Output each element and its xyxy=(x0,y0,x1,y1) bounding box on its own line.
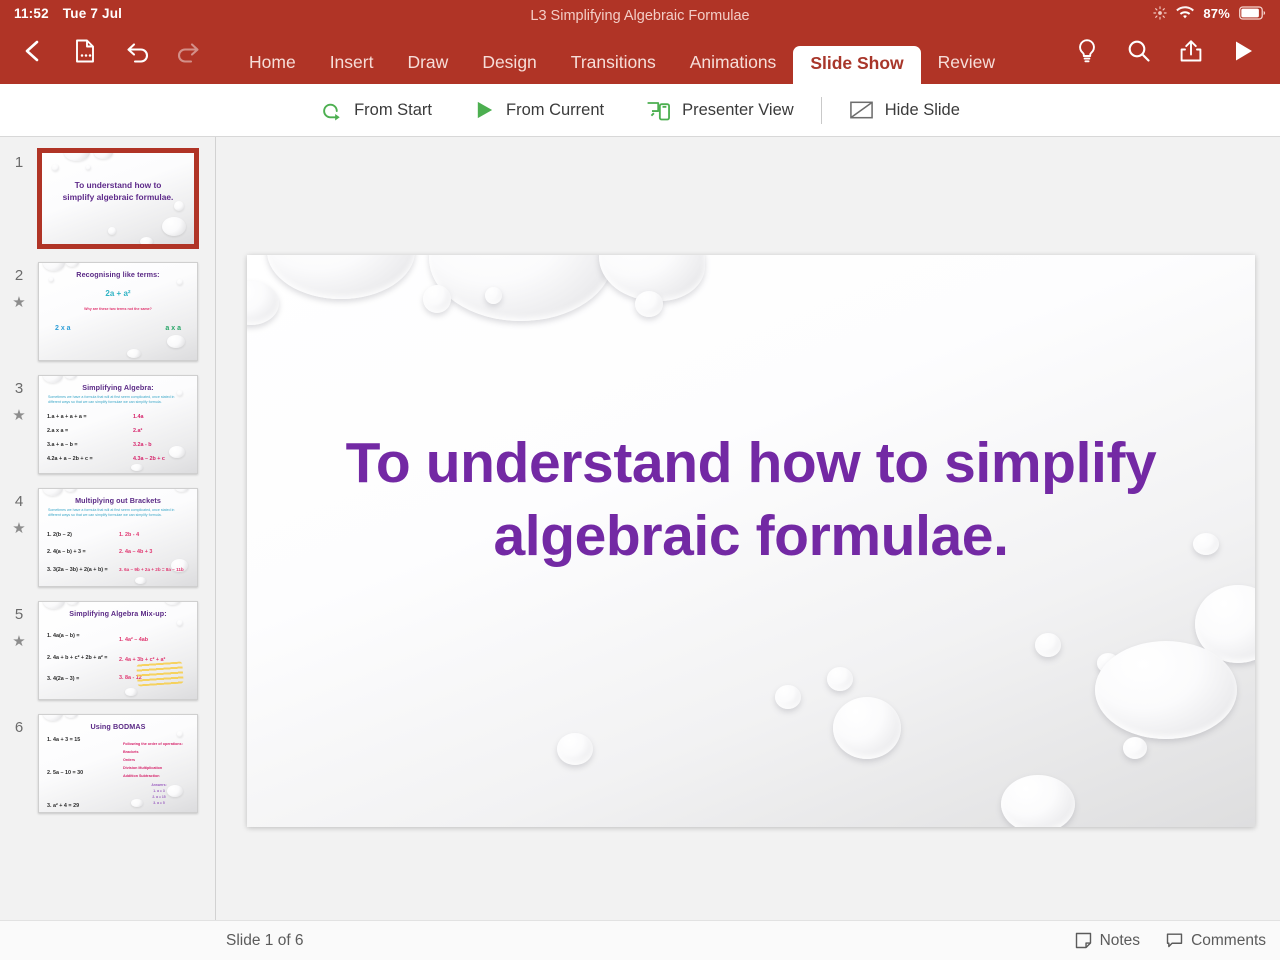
comments-button[interactable]: Comments xyxy=(1166,932,1266,950)
slide-thumbnail-5[interactable]: 5 ★ Simplifying Algebra Mix-up: 1. 4a(a … xyxy=(0,601,215,702)
file-options-icon[interactable] xyxy=(62,32,108,70)
slide-thumbnail-6[interactable]: 6 Using BODMAS 1. 4a + 3 = 15 2. 5a – 10… xyxy=(0,714,215,815)
brightness-icon xyxy=(1153,6,1167,20)
thumbnail-title-4: Multiplying out Brackets xyxy=(39,496,197,505)
notes-button[interactable]: Notes xyxy=(1075,932,1141,950)
thumbnail-frame-3[interactable]: Simplifying Algebra: Sometimes we have a… xyxy=(38,375,198,474)
tab-animations[interactable]: Animations xyxy=(673,48,794,85)
slide-thumbnail-sidebar[interactable]: 1 To understand how to simplify algebrai… xyxy=(0,137,216,920)
thumbnail-a1-5: 1. 4a² – 4ab xyxy=(119,637,148,643)
droplet-decoration xyxy=(557,733,593,765)
slide-title-text[interactable]: To understand how to simplify algebraic … xyxy=(328,427,1175,573)
droplet-decoration xyxy=(485,287,502,304)
droplet-decoration xyxy=(833,697,901,759)
status-date: Tue 7 Jul xyxy=(63,6,122,21)
thumbnail-a1-4: 1. 2b - 4 xyxy=(119,532,139,538)
thumbnail-q2-3: 2.a x a = xyxy=(47,428,68,434)
share-icon[interactable] xyxy=(1168,32,1214,70)
toolbar-divider xyxy=(821,97,822,124)
droplet-decoration xyxy=(1035,633,1061,657)
thumbnail-step-2-6: Orders xyxy=(123,757,135,763)
comments-icon xyxy=(1166,932,1183,949)
current-slide-canvas[interactable]: To understand how to simplify algebraic … xyxy=(247,255,1255,827)
tab-slide-show[interactable]: Slide Show xyxy=(793,46,920,85)
droplet-decoration xyxy=(423,285,451,313)
from-current-button[interactable]: From Current xyxy=(453,90,625,130)
thumbnail-q3-3: 3.a + a – b = xyxy=(47,442,78,448)
slide-editing-stage[interactable]: To understand how to simplify algebraic … xyxy=(216,137,1280,920)
ribbon-bar: L3 Simplifying Algebraic Formulae xyxy=(0,26,1280,84)
thumbnail-intro-3: Sometimes we have a formula that will at… xyxy=(48,395,188,406)
thumbnail-canvas-5: Simplifying Algebra Mix-up: 1. 4a(a – b)… xyxy=(39,602,197,699)
thumbnail-right-term-2: a x a xyxy=(165,325,181,332)
thumbnail-q2-6: 2. 5a – 10 = 30 xyxy=(47,770,83,776)
status-time: 11:52 xyxy=(14,6,49,21)
from-start-label: From Start xyxy=(354,102,432,119)
from-current-icon xyxy=(474,99,495,121)
presenter-view-icon xyxy=(646,99,671,122)
droplet-decoration xyxy=(247,281,279,325)
thumbnail-q3-5: 3. 4(2a – 3) = xyxy=(47,676,79,682)
thumbnail-title-3: Simplifying Algebra: xyxy=(39,383,197,392)
notes-icon xyxy=(1075,932,1092,949)
thumbnail-a3-3: 3.2a - b xyxy=(133,442,152,448)
wifi-icon xyxy=(1176,6,1194,20)
thumbnail-a1-3: 1.4a xyxy=(133,414,144,420)
thumbnail-q3-4: 3. 3(2a – 3b) + 2(a + b) = xyxy=(47,567,108,573)
thumbnail-q1-6: 1. 4a + 3 = 15 xyxy=(47,737,80,743)
thumbnail-meta-4: 4 ★ xyxy=(0,488,38,536)
slide-number-3: 3 xyxy=(0,381,38,396)
powerpoint-app-window: 11:52 Tue 7 Jul 87% xyxy=(0,0,1280,960)
thumbnail-meta-1: 1 xyxy=(0,149,38,170)
thumbnail-ans-1-6: 1. a = 3 xyxy=(135,789,183,794)
presenter-view-button[interactable]: Presenter View xyxy=(625,90,815,130)
thumbnail-q2-5: 2. 4a + b + c² + 2b + a² = xyxy=(47,655,107,661)
thumbnail-question-2: Why are these two terms not the same? xyxy=(39,307,197,311)
tab-transitions[interactable]: Transitions xyxy=(554,48,673,85)
thumbnail-intro-4: Sometimes we have a formula that will at… xyxy=(48,508,188,519)
thumbnail-title-6: Using BODMAS xyxy=(39,722,197,731)
from-current-label: From Current xyxy=(506,102,604,119)
droplet-decoration xyxy=(775,685,801,709)
thumbnail-frame-5[interactable]: Simplifying Algebra Mix-up: 1. 4a(a – b)… xyxy=(38,601,198,700)
tab-review[interactable]: Review xyxy=(921,48,1012,85)
animation-star-icon-2: ★ xyxy=(0,295,38,310)
animation-star-icon-5: ★ xyxy=(0,634,38,649)
droplet-decoration xyxy=(827,667,853,691)
play-icon[interactable] xyxy=(1220,32,1266,70)
hide-slide-button[interactable]: Hide Slide xyxy=(828,90,981,130)
slide-thumbnail-4[interactable]: 4 ★ Multiplying out Brackets Sometimes w… xyxy=(0,488,215,589)
droplet-decoration xyxy=(1193,533,1219,555)
thumbnail-meta-3: 3 ★ xyxy=(0,375,38,423)
ribbon-tabs: Home Insert Draw Design Transitions Anim… xyxy=(218,46,1064,85)
slide-number-1: 1 xyxy=(0,155,38,170)
back-chevron-icon[interactable] xyxy=(10,32,56,70)
droplet-decoration xyxy=(267,255,415,299)
status-bar-right: 87% xyxy=(1153,6,1266,21)
ios-status-bar: 11:52 Tue 7 Jul 87% xyxy=(0,0,1280,26)
thumbnail-step-3-6: Division Multiplication xyxy=(123,765,162,771)
from-start-icon xyxy=(320,99,343,122)
thumbnail-meta-6: 6 xyxy=(0,714,38,735)
status-bar-left: 11:52 Tue 7 Jul xyxy=(14,6,122,21)
thumbnail-frame-6[interactable]: Using BODMAS 1. 4a + 3 = 15 2. 5a – 10 =… xyxy=(38,714,198,813)
bottom-actions: Notes Comments xyxy=(1075,932,1266,950)
thumbnail-q1-4: 1. 2(b – 2) xyxy=(47,532,72,538)
slide-number-4: 4 xyxy=(0,494,38,509)
from-start-button[interactable]: From Start xyxy=(299,90,453,130)
thumbnail-title-2: Recognising like terms: xyxy=(39,270,197,279)
thumbnail-answers-heading-6: Answers: xyxy=(135,783,183,788)
droplet-decoration xyxy=(1123,737,1147,759)
droplet-decoration xyxy=(1001,775,1075,827)
notes-label: Notes xyxy=(1100,932,1141,950)
thumbnail-step-1-6: Brackets xyxy=(123,749,139,755)
presenter-view-label: Presenter View xyxy=(682,102,794,119)
thumbnail-ans-3-6: 3. a = 5 xyxy=(135,801,183,806)
animation-star-icon-4: ★ xyxy=(0,521,38,536)
thumbnail-steps-heading-6: Following the order of operations: xyxy=(123,741,183,747)
thumbnail-equation-2: 2a + a² xyxy=(39,289,197,298)
slide-number-2: 2 xyxy=(0,268,38,283)
thumbnail-step-4-6: Addition Subtraction xyxy=(123,773,159,779)
thumbnail-frame-1[interactable]: To understand how to simplify algebraic … xyxy=(38,149,198,248)
ribbon-left-actions xyxy=(0,32,218,84)
thumbnail-a3-4: 3. 6a – 9b + 2a + 2b = 8a – 11b xyxy=(119,567,184,572)
tab-draw[interactable]: Draw xyxy=(390,48,465,85)
slide-thumbnail-1[interactable]: 1 To understand how to simplify algebrai… xyxy=(0,149,215,250)
slide-number-5: 5 xyxy=(0,607,38,622)
slide-thumbnail-2[interactable]: 2 ★ Recognising like terms: 2a + a² Why … xyxy=(0,262,215,363)
thumbnail-canvas-4: Multiplying out Brackets Sometimes we ha… xyxy=(39,489,197,586)
comments-label: Comments xyxy=(1191,932,1266,950)
animation-star-icon-3: ★ xyxy=(0,408,38,423)
thumbnail-q2-4: 2. 4(a – b) + 3 = xyxy=(47,549,86,555)
droplet-decoration xyxy=(635,291,663,317)
hide-slide-icon xyxy=(849,99,874,121)
thumbnail-frame-2[interactable]: Recognising like terms: 2a + a² Why are … xyxy=(38,262,198,361)
hide-slide-label: Hide Slide xyxy=(885,102,960,119)
workspace: 1 To understand how to simplify algebrai… xyxy=(0,137,1280,920)
thumbnail-a4-3: 4.3a – 2b + c xyxy=(133,456,165,462)
slide-thumbnail-3[interactable]: 3 ★ Simplifying Algebra: Sometimes we ha… xyxy=(0,375,215,476)
tab-insert[interactable]: Insert xyxy=(313,48,391,85)
droplet-decoration xyxy=(1095,641,1237,739)
thumbnail-a2-4: 2. 4a – 4b + 3 xyxy=(119,549,152,555)
thumbnail-canvas-6: Using BODMAS 1. 4a + 3 = 15 2. 5a – 10 =… xyxy=(39,715,197,812)
redo-icon[interactable] xyxy=(166,32,212,70)
thumbnail-canvas-1: To understand how to simplify algebraic … xyxy=(42,153,194,244)
thumbnail-ans-2-6: 2. a = 15 xyxy=(135,795,183,800)
thumbnail-title-5: Simplifying Algebra Mix-up: xyxy=(39,609,197,618)
thumbnail-meta-2: 2 ★ xyxy=(0,262,38,310)
thumbnail-q1-3: 1.a + a + a + a = xyxy=(47,414,87,420)
thumbnail-q1-5: 1. 4a(a – b) = xyxy=(47,633,80,639)
slideshow-command-toolbar: From Start From Current Presenter View xyxy=(0,84,1280,137)
slide-number-6: 6 xyxy=(0,720,38,735)
droplet-decoration xyxy=(429,255,613,321)
thumbnail-q3-6: 3. a² + 4 = 29 xyxy=(47,803,79,809)
battery-icon xyxy=(1239,6,1266,20)
thumbnail-frame-4[interactable]: Multiplying out Brackets Sometimes we ha… xyxy=(38,488,198,587)
thumbnail-meta-5: 5 ★ xyxy=(0,601,38,649)
bottom-status-bar: Slide 1 of 6 Notes Comments xyxy=(0,920,1280,960)
lightbulb-icon[interactable] xyxy=(1064,32,1110,70)
search-icon[interactable] xyxy=(1116,32,1162,70)
thumbnail-q4-3: 4.2a + a – 2b + c = xyxy=(47,456,93,462)
thumbnail-title-1: To understand how to simplify algebraic … xyxy=(58,179,178,203)
undo-icon[interactable] xyxy=(114,32,160,70)
thumbnail-a2-3: 2.a² xyxy=(133,428,142,434)
ribbon-right-actions xyxy=(1064,32,1280,84)
thumbnail-highlight-5 xyxy=(136,661,183,686)
tab-design[interactable]: Design xyxy=(465,48,553,85)
thumbnail-canvas-3: Simplifying Algebra: Sometimes we have a… xyxy=(39,376,197,473)
slide-counter: Slide 1 of 6 xyxy=(0,932,304,950)
tab-home[interactable]: Home xyxy=(232,48,313,85)
thumbnail-left-term-2: 2 x a xyxy=(55,325,71,332)
thumbnail-canvas-2: Recognising like terms: 2a + a² Why are … xyxy=(39,263,197,360)
battery-percent-label: 87% xyxy=(1203,6,1230,21)
